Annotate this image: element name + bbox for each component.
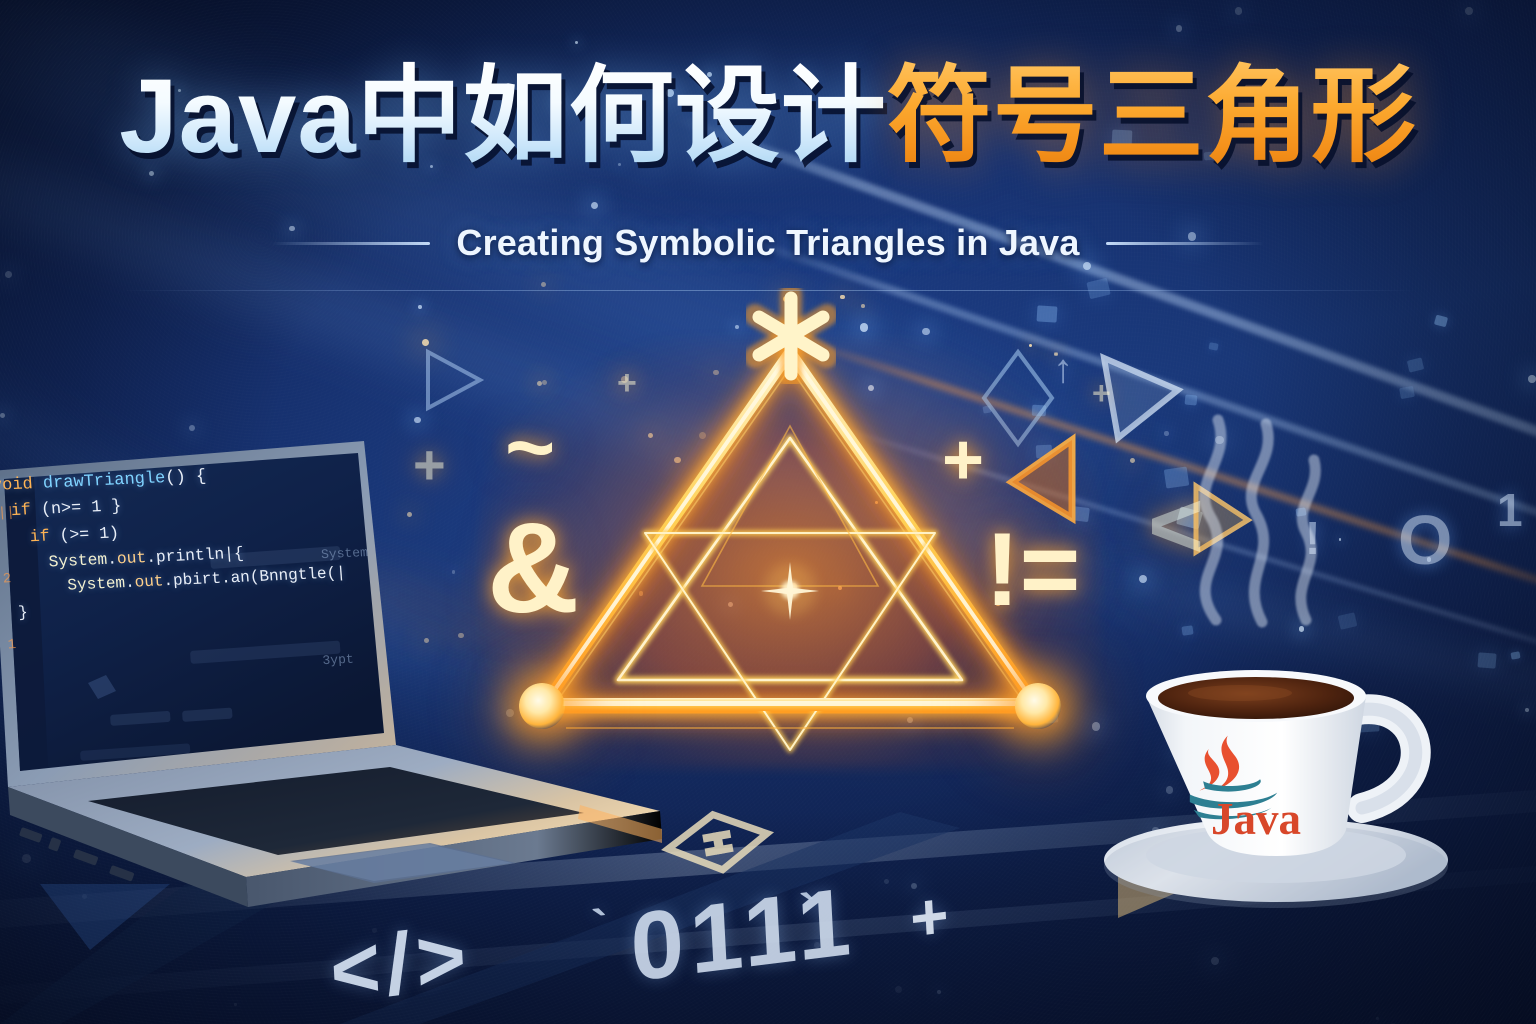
code-ghost-label: 3ypt	[322, 650, 355, 672]
subtitle-rule-left	[272, 242, 430, 245]
code-gutter-mark: 2	[2, 569, 12, 591]
title-segment-light: Java中如何设计	[119, 58, 887, 175]
subtitle-row: Creating Symbolic Triangles in Java	[0, 222, 1536, 264]
laptop-code-text: void drawTriangle() {if (n>= 1 }if (>= 1…	[0, 457, 393, 773]
code-gutter-mark: 1	[7, 635, 17, 657]
subtitle-text: Creating Symbolic Triangles in Java	[456, 222, 1079, 264]
page-title: Java中如何设计符号三角形	[0, 62, 1536, 172]
poster-canvas: Java中如何设计符号三角形 Creating Symbolic Triangl…	[0, 0, 1536, 1024]
code-gutter-mark: ||	[0, 503, 16, 525]
subtitle-rule-right	[1106, 242, 1264, 245]
java-coffee-mug: Java	[1110, 590, 1470, 920]
laptop-device: void drawTriangle() {if (n>= 1 }if (>= 1…	[0, 415, 700, 885]
asterisk-apex-symbol	[746, 288, 836, 384]
title-segment-accent: 符号三角形	[887, 58, 1417, 175]
mug-brand-label: Java	[1211, 794, 1301, 844]
triangle-node-right	[1015, 683, 1061, 729]
code-ghost-label: System	[320, 543, 368, 565]
subtitle-underline	[120, 290, 1416, 291]
